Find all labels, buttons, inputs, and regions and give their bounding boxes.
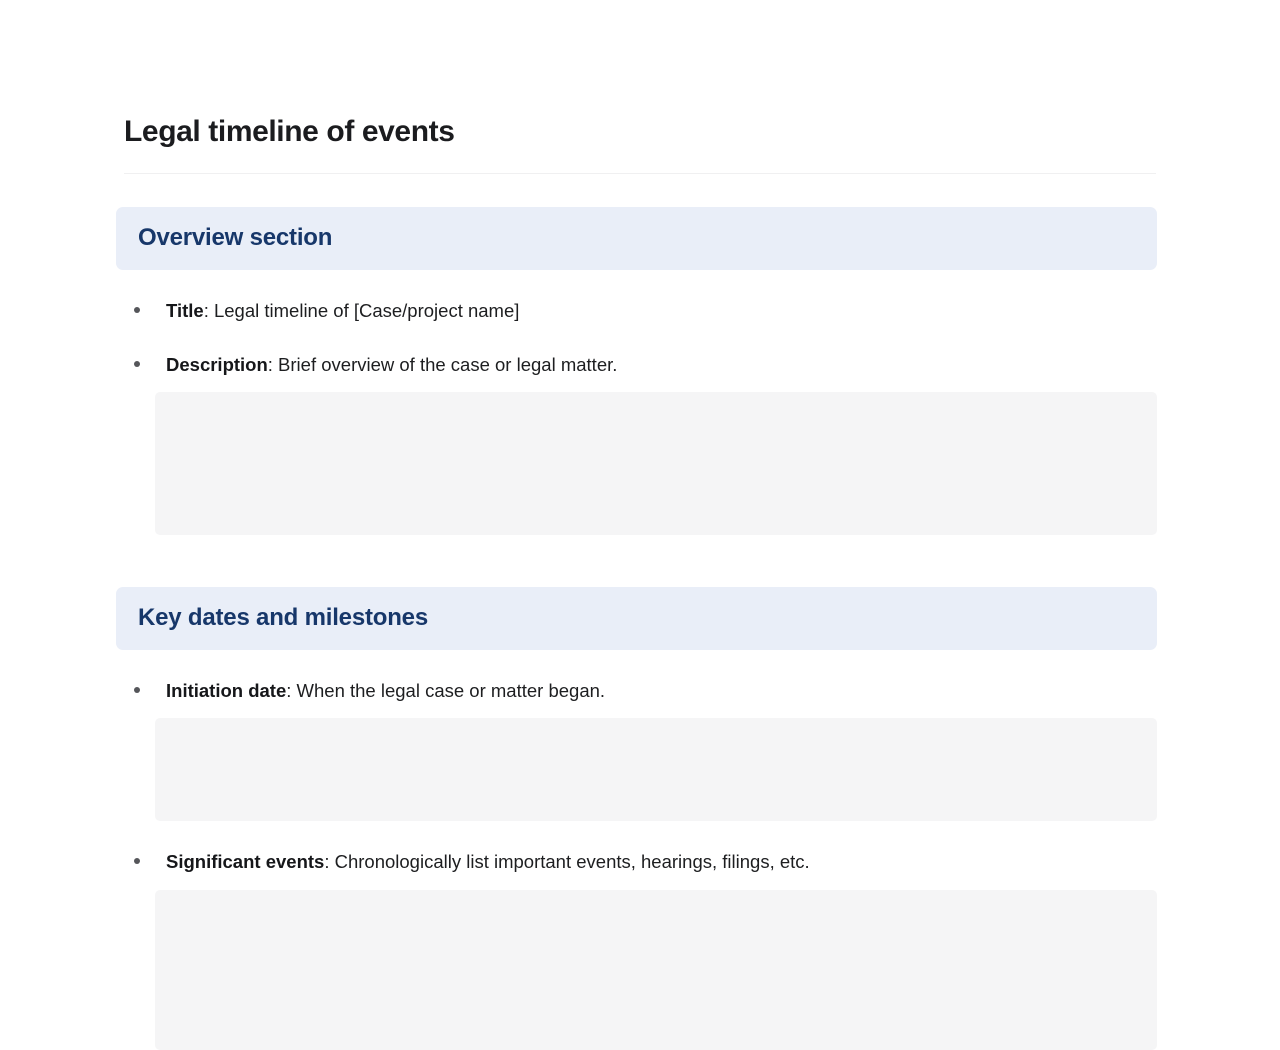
document-page: Legal timeline of events Overview sectio… [0,0,1280,1050]
section-content: Initiation date: When the legal case or … [124,678,1156,1050]
document-body: Legal timeline of events Overview sectio… [0,0,1280,1050]
answer-input-box[interactable] [155,392,1157,535]
title-divider [124,173,1156,174]
bullet-point-icon [134,687,140,693]
list-item-text: : Chronologically list important events,… [324,851,809,872]
bullet-list: Significant events: Chronologically list… [124,849,1156,875]
list-item-text: : Legal timeline of [Case/project name] [204,300,520,321]
answer-input-box[interactable] [155,718,1157,821]
list-item-label: Description [166,354,268,375]
list-item-text: : Brief overview of the case or legal ma… [268,354,618,375]
section-key-dates: Key dates and milestones Initiation date… [124,587,1156,1050]
section-header-banner: Overview section [116,207,1157,270]
bullet-point-icon [134,361,140,367]
list-item: Initiation date: When the legal case or … [124,678,1156,704]
section-content: Title: Legal timeline of [Case/project n… [124,298,1156,536]
section-header-banner: Key dates and milestones [116,587,1157,650]
list-item: Title: Legal timeline of [Case/project n… [124,298,1156,324]
list-item: Significant events: Chronologically list… [124,849,1156,875]
bullet-list: Title: Legal timeline of [Case/project n… [124,298,1156,379]
section-heading: Key dates and milestones [138,604,428,633]
answer-input-box[interactable] [155,890,1157,1050]
bullet-list: Initiation date: When the legal case or … [124,678,1156,704]
section-heading: Overview section [138,224,332,253]
list-item-label: Initiation date [166,680,286,701]
section-overview: Overview section Title: Legal timeline o… [124,207,1156,536]
bullet-point-icon [134,307,140,313]
list-item-text: : When the legal case or matter began. [286,680,605,701]
list-item: Description: Brief overview of the case … [124,352,1156,378]
list-item-label: Significant events [166,851,324,872]
bullet-point-icon [134,858,140,864]
list-item-label: Title [166,300,204,321]
page-title: Legal timeline of events [124,113,1156,151]
